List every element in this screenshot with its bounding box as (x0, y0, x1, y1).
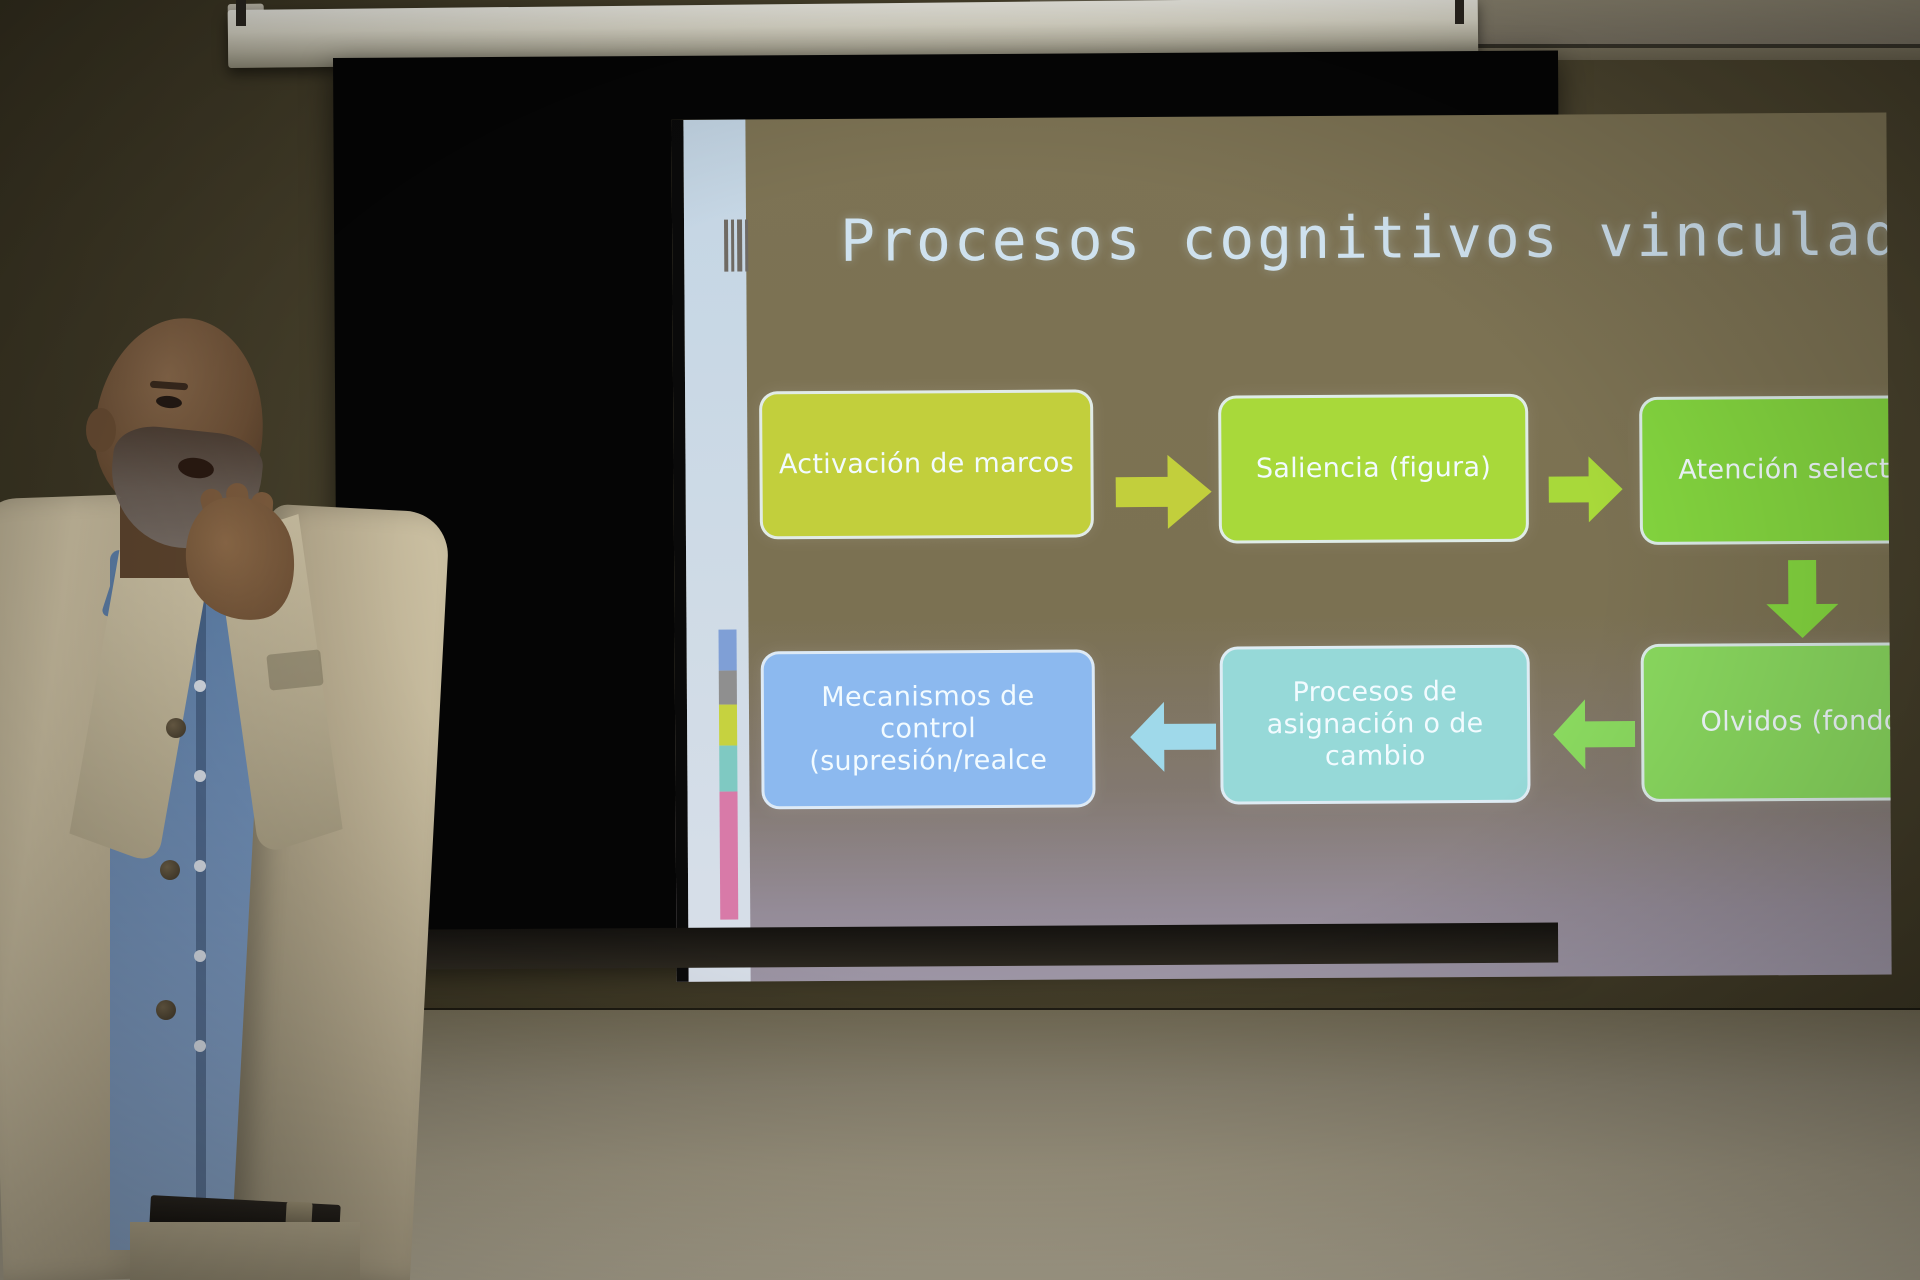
flow-diagram: Activación de marcos Saliencia (figura) (671, 113, 1891, 982)
shirt-button (194, 950, 206, 962)
trousers (130, 1222, 360, 1280)
arrow-right-icon (1548, 456, 1622, 522)
shirt-button (194, 770, 206, 782)
flow-node-label: Mecanismos de control (supresión/realce (778, 681, 1079, 778)
shirt-button (194, 1040, 206, 1052)
flow-node-activacion-de-marcos[interactable]: Activación de marcos (759, 389, 1094, 539)
projection-screen-frame: Procesos cognitivos vinculados Activació… (333, 51, 1564, 963)
flow-node-label: Atención selectiva (1678, 453, 1891, 486)
presentation-slide: Procesos cognitivos vinculados Activació… (671, 113, 1891, 982)
flow-node-saliencia-figura[interactable]: Saliencia (figura) (1218, 394, 1529, 544)
flow-node-olvidos-fondo[interactable]: Olvidos (fondo) (1641, 642, 1892, 802)
shirt-button (194, 680, 206, 692)
lecture-room-scene: Procesos cognitivos vinculados Activació… (0, 0, 1920, 1280)
arrow-left-icon (1130, 702, 1216, 773)
ear (86, 408, 116, 452)
screen-bottom-bar (336, 923, 1558, 970)
roller-bracket-right (1455, 0, 1464, 24)
jacket-pocket (266, 649, 323, 690)
flow-node-label: Activación de marcos (779, 448, 1074, 482)
roller-bracket-left (236, 0, 246, 26)
jacket-button (166, 718, 186, 738)
flow-node-procesos-de-asignacion[interactable]: Procesos de asignación o de cambio (1220, 645, 1531, 805)
ceiling-panel (1420, 0, 1920, 46)
flow-node-atencion-selectiva[interactable]: Atención selectiva (1639, 395, 1892, 545)
flow-node-label: Saliencia (figura) (1256, 452, 1491, 485)
arrow-right-icon (1115, 455, 1211, 530)
jacket-button (156, 1000, 176, 1020)
presenter-figure (0, 300, 470, 1280)
arrow-left-icon (1553, 699, 1635, 769)
shirt-button (194, 860, 206, 872)
flow-node-mecanismos-de-control[interactable]: Mecanismos de control (supresión/realce (761, 649, 1096, 809)
jacket-button (160, 860, 180, 880)
flow-node-label: Procesos de asignación o de cambio (1237, 676, 1514, 773)
arrow-down-icon (1766, 560, 1838, 638)
flow-node-label: Olvidos (fondo) (1701, 705, 1892, 738)
